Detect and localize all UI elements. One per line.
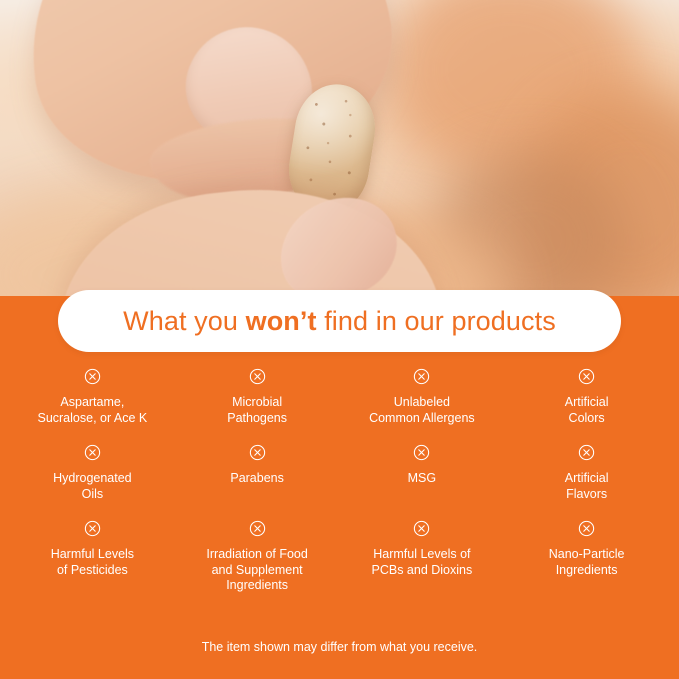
- grid-item-label: Aspartame, Sucralose, or Ace K: [37, 395, 147, 426]
- product-photo: [0, 0, 679, 300]
- headline-pill: What you won’t find in our products: [58, 290, 621, 352]
- grid-item: Irradiation of Food and Supplement Ingre…: [175, 520, 340, 594]
- grid-item-label: Harmful Levels of PCBs and Dioxins: [372, 547, 473, 578]
- grid-item: Harmful Levels of Pesticides: [10, 520, 175, 594]
- circle-x-icon: [578, 520, 595, 537]
- circle-x-icon: [413, 444, 430, 461]
- circle-x-icon: [578, 368, 595, 385]
- grid-item-label: Artificial Flavors: [565, 471, 609, 502]
- excluded-ingredients-grid: Aspartame, Sucralose, or Ace K Microbial…: [10, 368, 669, 594]
- grid-item-label: MSG: [408, 471, 436, 487]
- grid-item: Artificial Colors: [504, 368, 669, 426]
- circle-x-icon: [413, 368, 430, 385]
- product-info-graphic: What you won’t find in our products Aspa…: [0, 0, 679, 679]
- grid-item-label: Microbial Pathogens: [227, 395, 287, 426]
- grid-item: MSG: [340, 444, 505, 502]
- grid-item-label: Hydrogenated Oils: [53, 471, 132, 502]
- circle-x-icon: [249, 368, 266, 385]
- headline-emphasis: won’t: [246, 306, 317, 336]
- grid-item-label: Parabens: [230, 471, 284, 487]
- circle-x-icon: [84, 520, 101, 537]
- grid-item-label: Unlabeled Common Allergens: [369, 395, 475, 426]
- grid-item: Aspartame, Sucralose, or Ace K: [10, 368, 175, 426]
- grid-item: Unlabeled Common Allergens: [340, 368, 505, 426]
- circle-x-icon: [249, 444, 266, 461]
- headline-text: What you won’t find in our products: [123, 306, 556, 337]
- circle-x-icon: [84, 368, 101, 385]
- headline-suffix: find in our products: [317, 306, 556, 336]
- disclaimer-text: The item shown may differ from what you …: [0, 640, 679, 654]
- grid-item: Nano-Particle Ingredients: [504, 520, 669, 594]
- grid-item: Hydrogenated Oils: [10, 444, 175, 502]
- circle-x-icon: [413, 520, 430, 537]
- grid-item-label: Artificial Colors: [565, 395, 609, 426]
- headline-prefix: What you: [123, 306, 245, 336]
- grid-item: Microbial Pathogens: [175, 368, 340, 426]
- grid-item-label: Irradiation of Food and Supplement Ingre…: [206, 547, 307, 594]
- grid-item-label: Nano-Particle Ingredients: [549, 547, 625, 578]
- circle-x-icon: [84, 444, 101, 461]
- grid-item: Artificial Flavors: [504, 444, 669, 502]
- circle-x-icon: [249, 520, 266, 537]
- grid-item-label: Harmful Levels of Pesticides: [51, 547, 134, 578]
- grid-item: Parabens: [175, 444, 340, 502]
- grid-item: Harmful Levels of PCBs and Dioxins: [340, 520, 505, 594]
- circle-x-icon: [578, 444, 595, 461]
